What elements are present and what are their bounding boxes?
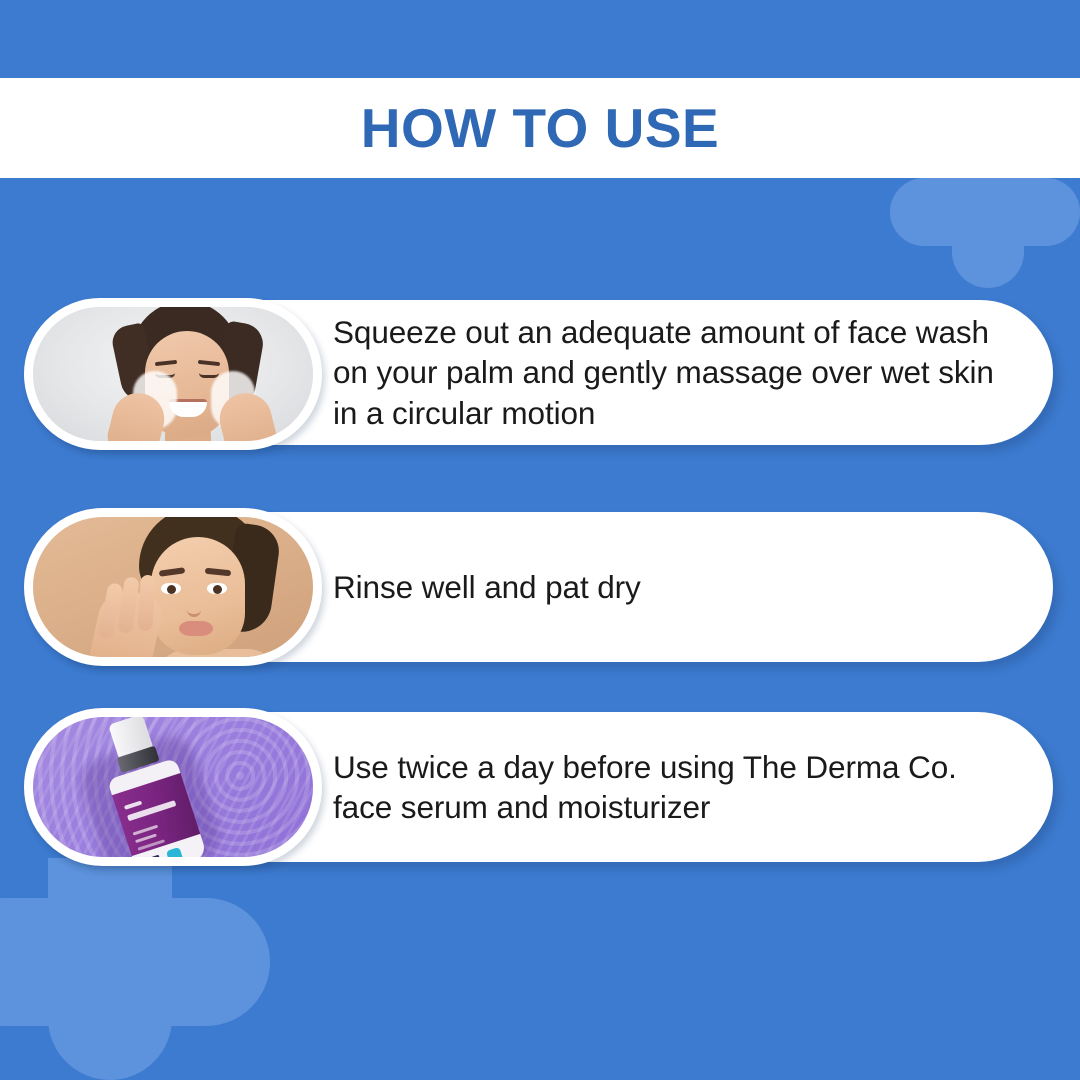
step-image-thumbnail: [24, 508, 322, 666]
steps-list: Squeeze out an adequate amount of face w…: [0, 0, 1080, 1080]
step-image-thumbnail: [24, 708, 322, 866]
woman-applying-face-wash-photo: [33, 307, 313, 441]
step-image-thumbnail: [24, 298, 322, 450]
woman-touching-cheek-photo: [33, 517, 313, 657]
step-instruction-text: Use twice a day before using The Derma C…: [333, 747, 1053, 828]
step-card: Rinse well and pat dry: [25, 512, 1053, 662]
step-instruction-text: Squeeze out an adequate amount of face w…: [333, 312, 1053, 433]
niacinamide-serum-bottle-photo: [33, 717, 313, 857]
step-card: Squeeze out an adequate amount of face w…: [25, 300, 1053, 445]
step-card: Use twice a day before using The Derma C…: [25, 712, 1053, 862]
step-instruction-text: Rinse well and pat dry: [333, 567, 681, 607]
